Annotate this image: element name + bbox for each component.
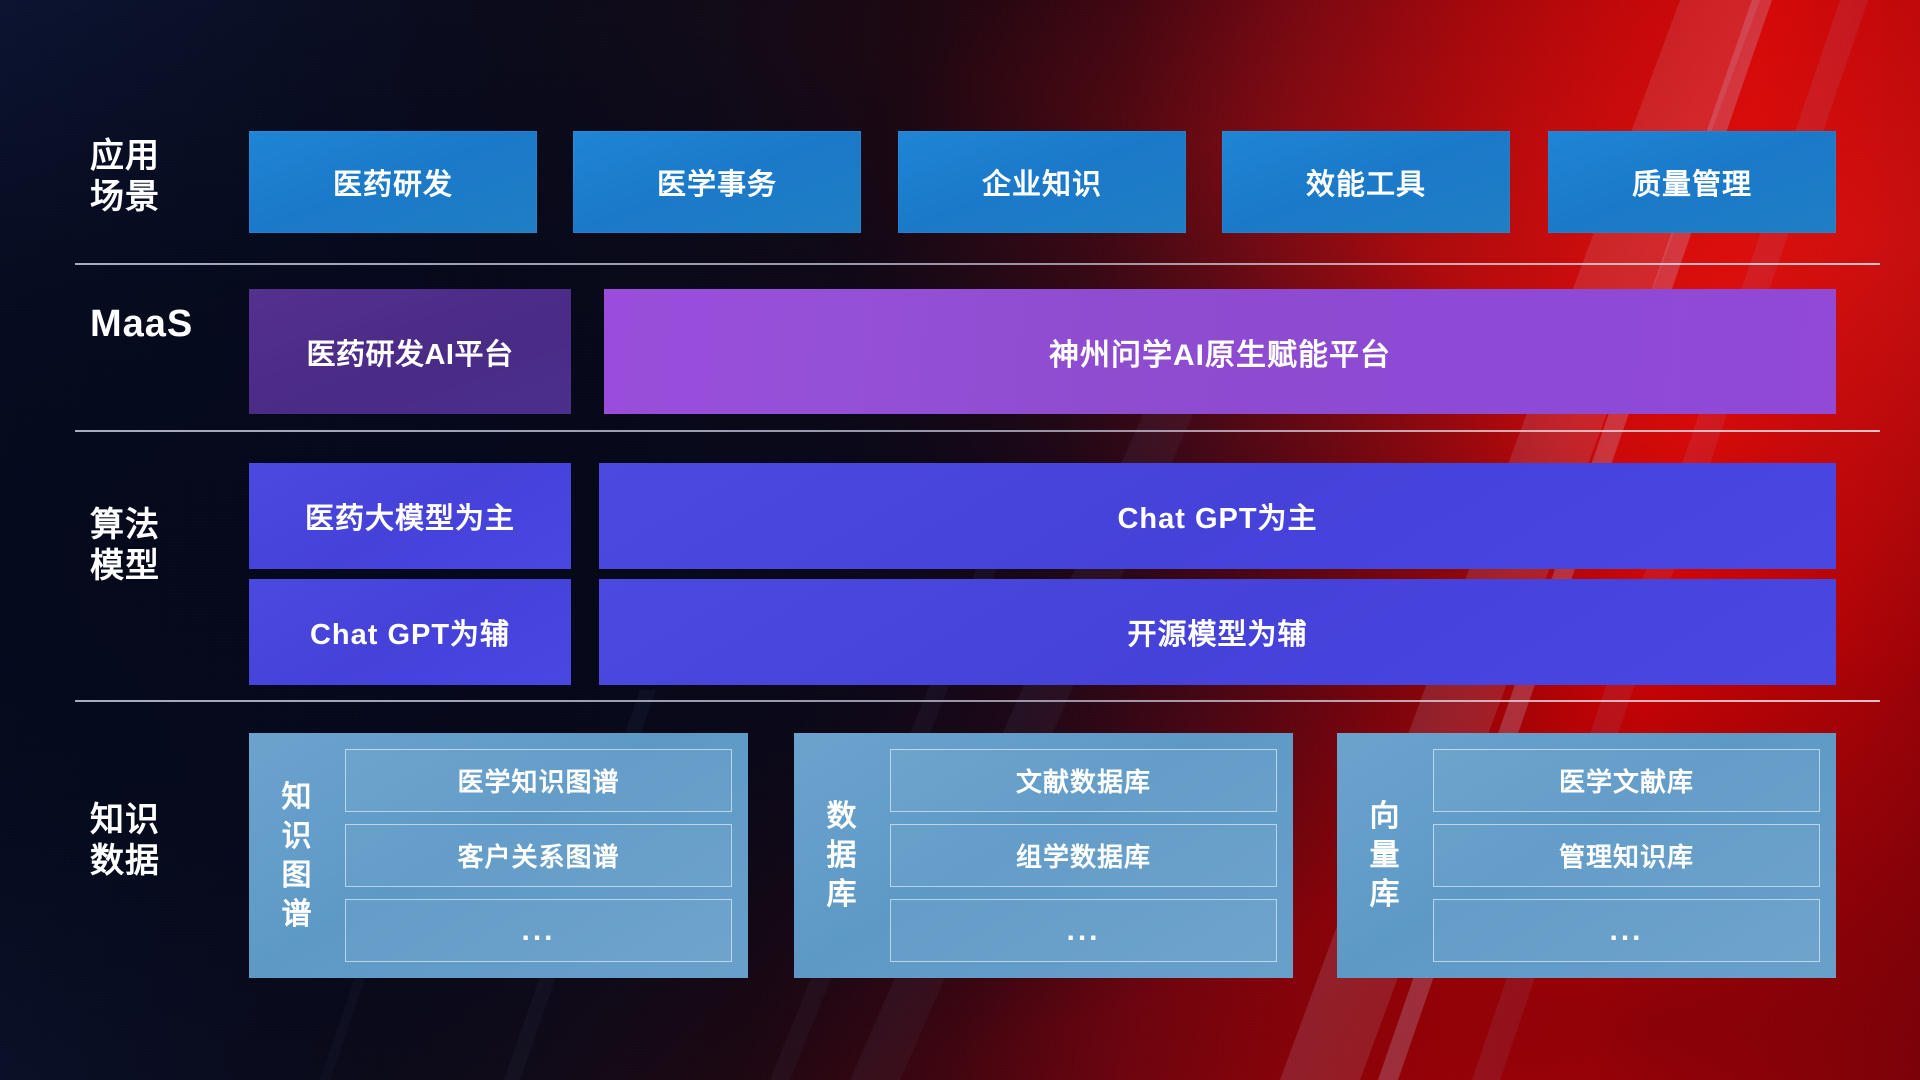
layer-label-application: 应用 场景: [90, 136, 240, 219]
knowledge-item-medical-literature[interactable]: 医学文献库: [1433, 749, 1820, 812]
knowledge-item-medical-graph[interactable]: 医学知识图谱: [345, 749, 732, 812]
knowledge-group-graph: 知 识 图 谱 医学知识图谱 客户关系图谱 ...: [249, 733, 748, 978]
knowledge-group-database-items: 文献数据库 组学数据库 ...: [890, 749, 1277, 962]
knowledge-group-vector-title: 向 量 库: [1337, 749, 1433, 962]
maas-box-shenzhou-wenxue-platform[interactable]: 神州问学AI原生赋能平台: [604, 289, 1836, 414]
knowledge-group-vector: 向 量 库 医学文献库 管理知识库 ...: [1337, 733, 1836, 978]
knowledge-group-database: 数 据 库 文献数据库 组学数据库 ...: [794, 733, 1293, 978]
model-box-chatgpt-secondary[interactable]: Chat GPT为辅: [249, 579, 571, 685]
knowledge-item-omics-db[interactable]: 组学数据库: [890, 824, 1277, 887]
knowledge-group-graph-title-char-3: 谱: [282, 895, 313, 934]
knowledge-group-vector-title-char-2: 库: [1370, 875, 1401, 914]
app-box-medical-affairs[interactable]: 医学事务: [573, 131, 861, 233]
maas-box-medicine-ai-platform[interactable]: 医药研发AI平台: [249, 289, 571, 414]
app-box-quality-management[interactable]: 质量管理: [1548, 131, 1836, 233]
layer-label-knowledge-data: 知识 数据: [90, 800, 240, 883]
knowledge-item-customer-graph[interactable]: 客户关系图谱: [345, 824, 732, 887]
knowledge-group-vector-title-char-0: 向: [1370, 797, 1401, 836]
layer-label-maas: MaaS: [90, 301, 240, 347]
knowledge-group-vector-items: 医学文献库 管理知识库 ...: [1433, 749, 1820, 962]
knowledge-group-graph-title: 知 识 图 谱: [249, 749, 345, 962]
knowledge-item-graph-more[interactable]: ...: [345, 899, 732, 962]
layer-algorithm-model: 算法 模型 医药大模型为主 Chat GPT为主 Chat GPT为辅 开源模型…: [0, 430, 1920, 690]
knowledge-group-database-title-char-1: 据: [827, 836, 858, 875]
knowledge-group-database-title-char-0: 数: [827, 797, 858, 836]
knowledge-group-graph-title-char-1: 识: [282, 817, 313, 856]
knowledge-group-graph-title-char-2: 图: [282, 856, 313, 895]
layer-label-algorithm-model: 算法 模型: [90, 505, 240, 588]
model-box-chatgpt-primary[interactable]: Chat GPT为主: [599, 463, 1836, 569]
architecture-diagram: 应用 场景 医药研发 医学事务 企业知识 效能工具 质量管理 MaaS 医药研发…: [0, 0, 1920, 1080]
knowledge-group-graph-title-char-0: 知: [282, 778, 313, 817]
knowledge-group-vector-title-char-1: 量: [1370, 836, 1401, 875]
model-box-opensource-secondary[interactable]: 开源模型为辅: [599, 579, 1836, 685]
knowledge-group-database-title-char-2: 库: [827, 875, 858, 914]
knowledge-group-graph-items: 医学知识图谱 客户关系图谱 ...: [345, 749, 732, 962]
layer-maas: MaaS 医药研发AI平台 神州问学AI原生赋能平台: [0, 263, 1920, 423]
model-box-medicine-llm-primary[interactable]: 医药大模型为主: [249, 463, 571, 569]
knowledge-item-literature-db[interactable]: 文献数据库: [890, 749, 1277, 812]
knowledge-item-vector-more[interactable]: ...: [1433, 899, 1820, 962]
knowledge-group-database-title: 数 据 库: [794, 749, 890, 962]
knowledge-item-management-kb[interactable]: 管理知识库: [1433, 824, 1820, 887]
layer-knowledge-data: 知识 数据 知 识 图 谱 医学知识图谱 客户关系图谱 ... 数 据 库: [0, 700, 1920, 1030]
app-box-enterprise-knowledge[interactable]: 企业知识: [898, 131, 1186, 233]
knowledge-item-database-more[interactable]: ...: [890, 899, 1277, 962]
app-box-medicine-rd[interactable]: 医药研发: [249, 131, 537, 233]
layer-application: 应用 场景 医药研发 医学事务 企业知识 效能工具 质量管理: [0, 0, 1920, 270]
app-box-efficiency-tools[interactable]: 效能工具: [1222, 131, 1510, 233]
